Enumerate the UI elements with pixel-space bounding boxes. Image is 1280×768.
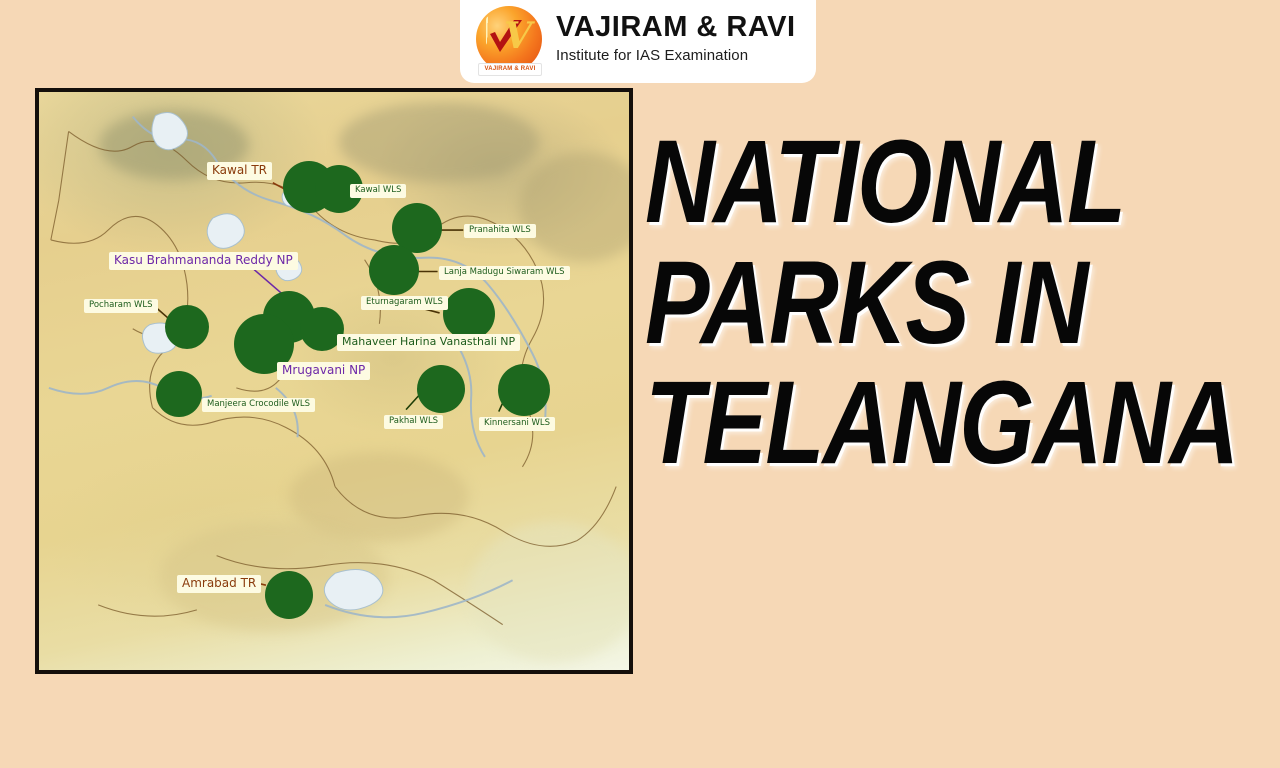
map-label-pranahita-wls[interactable]: Pranahita WLS	[464, 224, 536, 238]
park-marker[interactable]	[498, 364, 550, 416]
park-marker[interactable]	[265, 571, 313, 619]
map-label-mrugavani-np[interactable]: Mrugavani NP	[277, 362, 370, 380]
map-label-pakhal-wls[interactable]: Pakhal WLS	[384, 415, 443, 429]
map-label-amrabad-tr[interactable]: Amrabad TR	[177, 575, 261, 593]
brand-name: VAJIRAM & RAVI	[556, 13, 796, 43]
map-label-mahaveer-harina-vanasthali-np[interactable]: Mahaveer Harina Vanasthali NP	[337, 334, 520, 351]
page-title: NATIONAL PARKS IN TELANGANA	[645, 128, 1245, 478]
map-label-kinnersani-wls[interactable]: Kinnersani WLS	[479, 417, 555, 431]
park-marker[interactable]	[369, 245, 419, 295]
brand-text-block: VAJIRAM & RAVI Institute for IAS Examina…	[556, 13, 796, 64]
logo-v-glyph: V	[504, 18, 532, 54]
map-label-eturnagaram-wls[interactable]: Eturnagaram WLS	[361, 296, 448, 310]
map-label-kawal-tr[interactable]: Kawal TR	[207, 162, 272, 180]
park-marker[interactable]	[156, 371, 202, 417]
brand-tagline: Institute for IAS Examination	[556, 47, 796, 64]
page-title-line-3: TELANGANA	[645, 369, 1137, 478]
map-label-pocharam-wls[interactable]: Pocharam WLS	[84, 299, 158, 313]
park-marker[interactable]	[417, 365, 465, 413]
page-title-line-2: PARKS IN	[645, 249, 1137, 358]
logo-ribbon-label: VAJIRAM & RAVI	[478, 63, 542, 76]
park-marker[interactable]	[165, 305, 209, 349]
sun-checkmark-logo-icon: V VAJIRAM & RAVI	[474, 4, 546, 76]
map-label-manjeera-crocodile-wls[interactable]: Manjeera Crocodile WLS	[202, 398, 315, 412]
map-label-lanja-madugu-siwaram-wls[interactable]: Lanja Madugu Siwaram WLS	[439, 266, 570, 280]
park-marker[interactable]	[443, 288, 495, 340]
brand-logo-card: V VAJIRAM & RAVI VAJIRAM & RAVI Institut…	[460, 0, 816, 83]
map-label-kawal-wls[interactable]: Kawal WLS	[350, 184, 406, 198]
page-title-line-1: NATIONAL	[645, 128, 1137, 237]
map-label-kasu-brahmananda-reddy-np[interactable]: Kasu Brahmananda Reddy NP	[109, 252, 298, 270]
telangana-map[interactable]: Kawal TR Kawal WLS Pranahita WLS Lanja M…	[35, 88, 633, 674]
